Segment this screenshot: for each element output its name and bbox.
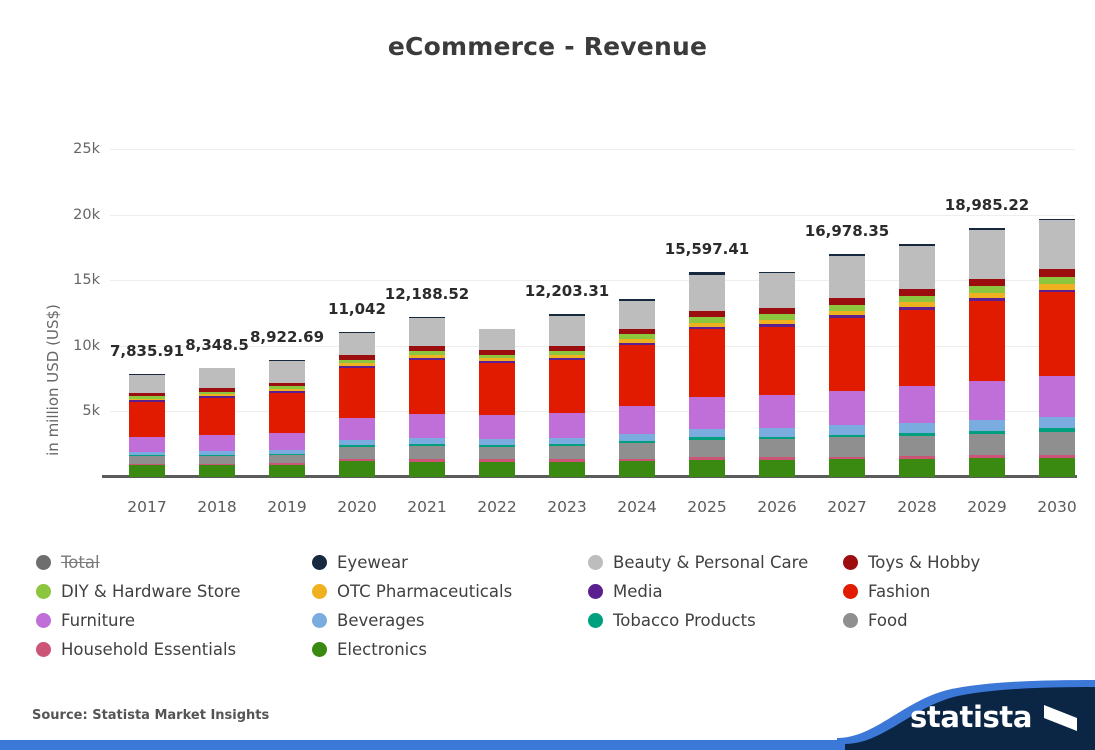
legend-item-tobacco-products[interactable]: Tobacco Products [588,611,843,630]
bar-value-label: 12,188.52 [357,285,497,303]
legend-item-label: DIY & Hardware Store [61,582,241,601]
statista-wordmark: statista [910,700,1032,734]
x-axis-tick-2027: 2027 [812,498,882,516]
bar-segment-beauty-personal-care[interactable] [829,256,865,299]
bar-segment-beauty-personal-care[interactable] [969,230,1005,279]
legend-item-eyewear[interactable]: Eyewear [312,553,588,572]
bar-2023[interactable] [549,314,585,477]
legend-swatch-icon [36,584,51,599]
bar-segment-furniture[interactable] [479,415,515,438]
bar-segment-beauty-personal-care[interactable] [899,246,935,289]
bar-segment-food[interactable] [479,447,515,460]
bar-segment-diy-hardware-store[interactable] [1039,277,1075,284]
legend-item-label: Electronics [337,640,427,659]
x-axis-tick-2030: 2030 [1022,498,1092,516]
bar-2020[interactable] [339,332,375,477]
bar-segment-beauty-personal-care[interactable] [549,316,585,346]
bar-segment-electronics[interactable] [269,465,305,477]
bar-segment-food[interactable] [339,447,375,459]
bar-segment-fashion[interactable] [479,363,515,415]
legend-item-label: Beauty & Personal Care [613,553,808,572]
bar-segment-furniture[interactable] [199,435,235,450]
legend-item-furniture[interactable]: Furniture [36,611,312,630]
bar-2028[interactable] [899,244,935,477]
bar-segment-electronics[interactable] [619,461,655,477]
bar-segment-furniture[interactable] [899,386,935,423]
legend-item-fashion[interactable]: Fashion [843,582,1076,601]
bar-segment-electronics[interactable] [339,461,375,477]
bar-segment-fashion[interactable] [619,345,655,406]
bar-2019[interactable] [269,360,305,477]
bar-segment-furniture[interactable] [829,391,865,426]
bar-segment-food[interactable] [199,456,235,464]
statista-logo: statista [837,678,1095,750]
bar-segment-beauty-personal-care[interactable] [199,368,235,388]
bar-2026[interactable] [759,272,795,477]
bar-2029[interactable] [969,228,1005,477]
legend-item-label: Household Essentials [61,640,236,659]
bar-segment-fashion[interactable] [1039,292,1075,376]
legend-item-otc-pharmaceuticals[interactable]: OTC Pharmaceuticals [312,582,588,601]
bar-segment-electronics[interactable] [969,458,1005,477]
x-axis-tick-2019: 2019 [252,498,322,516]
legend-item-electronics[interactable]: Electronics [312,640,588,659]
legend-item-label: Media [613,582,663,601]
x-axis-tick-2022: 2022 [462,498,532,516]
legend-swatch-icon [312,613,327,628]
bar-segment-toys-hobby[interactable] [1039,269,1075,277]
bar-segment-beverages[interactable] [829,425,865,434]
bar-value-label: 15,597.41 [637,240,777,258]
bar-2024[interactable] [619,299,655,477]
bar-segment-beauty-personal-care[interactable] [689,275,725,312]
x-axis-tick-2023: 2023 [532,498,602,516]
legend-item-household-essentials[interactable]: Household Essentials [36,640,312,659]
bar-segment-furniture[interactable] [339,418,375,440]
bar-segment-beauty-personal-care[interactable] [409,318,445,346]
bar-2017[interactable] [129,374,165,477]
bar-segment-furniture[interactable] [759,395,795,428]
bar-segment-fashion[interactable] [339,368,375,418]
bar-segment-beverages[interactable] [1039,417,1075,428]
chart-legend: TotalEyewearBeauty & Personal CareToys &… [36,548,1076,664]
legend-item-label: Fashion [868,582,930,601]
bar-segment-furniture[interactable] [269,433,305,450]
bar-segment-food[interactable] [689,440,725,458]
x-axis-tick-2024: 2024 [602,498,672,516]
bar-value-label: 8,922.69 [217,328,357,346]
legend-item-total[interactable]: Total [36,553,312,572]
bar-segment-fashion[interactable] [969,301,1005,381]
x-axis-tick-2020: 2020 [322,498,392,516]
bar-value-label: 12,203.31 [497,282,637,300]
bar-segment-beauty-personal-care[interactable] [619,301,655,329]
legend-swatch-icon [312,642,327,657]
bar-2027[interactable] [829,254,865,477]
bar-segment-electronics[interactable] [689,460,725,477]
bar-segment-electronics[interactable] [479,462,515,477]
bar-segment-electronics[interactable] [1039,458,1075,477]
bar-2022[interactable] [479,329,515,477]
legend-swatch-icon [843,613,858,628]
bar-segment-beverages[interactable] [899,423,935,433]
bar-segment-beverages[interactable] [619,434,655,441]
bar-segment-beauty-personal-care[interactable] [269,361,305,383]
bar-segment-beauty-personal-care[interactable] [759,273,795,308]
bar-segment-furniture[interactable] [969,381,1005,420]
bar-segment-beauty-personal-care[interactable] [479,329,515,349]
source-note: Source: Statista Market Insights [32,708,269,723]
legend-swatch-icon [36,613,51,628]
bar-segment-food[interactable] [829,437,865,456]
bar-segment-beverages[interactable] [759,428,795,437]
bar-segment-furniture[interactable] [619,406,655,434]
x-axis-tick-2026: 2026 [742,498,812,516]
legend-item-label: Beverages [337,611,425,630]
bar-segment-toys-hobby[interactable] [969,279,1005,287]
bar-segment-beauty-personal-care[interactable] [129,375,165,393]
bar-segment-furniture[interactable] [1039,376,1075,417]
bar-2018[interactable] [199,368,235,477]
bar-segment-food[interactable] [1039,432,1075,455]
legend-swatch-icon [588,613,603,628]
bar-segment-toys-hobby[interactable] [899,289,935,296]
bar-segment-food[interactable] [409,446,445,459]
bar-segment-fashion[interactable] [759,327,795,396]
bar-segment-furniture[interactable] [409,414,445,438]
bar-segment-fashion[interactable] [409,360,445,414]
x-axis-tick-2028: 2028 [882,498,952,516]
bar-2021[interactable] [409,317,445,477]
legend-item-label: Furniture [61,611,135,630]
bar-segment-fashion[interactable] [689,329,725,397]
legend-swatch-icon [312,555,327,570]
bar-segment-fashion[interactable] [549,360,585,414]
bar-segment-furniture[interactable] [129,437,165,451]
bar-segment-beverages[interactable] [969,420,1005,431]
legend-item-label: Total [61,553,100,572]
bar-segment-beverages[interactable] [689,429,725,437]
legend-item-toys-hobby[interactable]: Toys & Hobby [843,553,1076,572]
bar-segment-fashion[interactable] [829,318,865,391]
bar-segment-electronics[interactable] [829,459,865,477]
legend-swatch-icon [843,555,858,570]
bar-segment-electronics[interactable] [129,465,165,477]
chart-container: eCommerce - Revenue 25k20k15k10k5k in mi… [0,0,1095,750]
bar-segment-electronics[interactable] [759,460,795,477]
bar-segment-food[interactable] [129,456,165,463]
bar-segment-fashion[interactable] [129,402,165,437]
legend-swatch-icon [588,555,603,570]
bar-segment-food[interactable] [899,436,935,456]
statista-mark-icon [1044,705,1077,731]
bar-value-label: 16,978.35 [777,222,917,240]
bar-segment-fashion[interactable] [899,310,935,386]
bar-segment-electronics[interactable] [199,465,235,477]
legend-item-label: Tobacco Products [613,611,756,630]
bar-segment-furniture[interactable] [549,413,585,437]
bar-segment-food[interactable] [549,446,585,459]
legend-swatch-icon [588,584,603,599]
bar-segment-electronics[interactable] [409,462,445,477]
x-axis-tick-2018: 2018 [182,498,252,516]
bar-segment-fashion[interactable] [269,393,305,433]
bar-2030[interactable] [1039,219,1075,477]
legend-item-beverages[interactable]: Beverages [312,611,588,630]
bar-segment-electronics[interactable] [549,462,585,477]
legend-item-label: Eyewear [337,553,408,572]
bar-value-label: 18,985.22 [917,196,1057,214]
legend-swatch-icon [843,584,858,599]
bar-segment-food[interactable] [759,439,795,457]
legend-swatch-icon [36,555,51,570]
legend-item-label: Food [868,611,908,630]
bar-segment-food[interactable] [269,455,305,463]
legend-item-food[interactable]: Food [843,611,1076,630]
x-axis-tick-2021: 2021 [392,498,462,516]
legend-item-media[interactable]: Media [588,582,843,601]
bar-2025[interactable] [689,272,725,477]
bar-segment-food[interactable] [969,434,1005,456]
bar-segment-diy-hardware-store[interactable] [969,286,1005,293]
x-axis-tick-2025: 2025 [672,498,742,516]
bar-segment-toys-hobby[interactable] [829,298,865,305]
legend-swatch-icon [312,584,327,599]
bar-segment-electronics[interactable] [899,459,935,477]
x-axis-tick-2029: 2029 [952,498,1022,516]
legend-item-label: OTC Pharmaceuticals [337,582,512,601]
legend-swatch-icon [36,642,51,657]
legend-item-label: Toys & Hobby [868,553,980,572]
bar-segment-furniture[interactable] [689,397,725,429]
bar-segment-beauty-personal-care[interactable] [1039,220,1075,269]
bar-segment-fashion[interactable] [199,398,235,436]
legend-item-diy-hardware-store[interactable]: DIY & Hardware Store [36,582,312,601]
bar-segment-beauty-personal-care[interactable] [339,333,375,355]
legend-item-beauty-personal-care[interactable]: Beauty & Personal Care [588,553,843,572]
x-axis-tick-2017: 2017 [112,498,182,516]
bar-segment-food[interactable] [619,443,655,458]
